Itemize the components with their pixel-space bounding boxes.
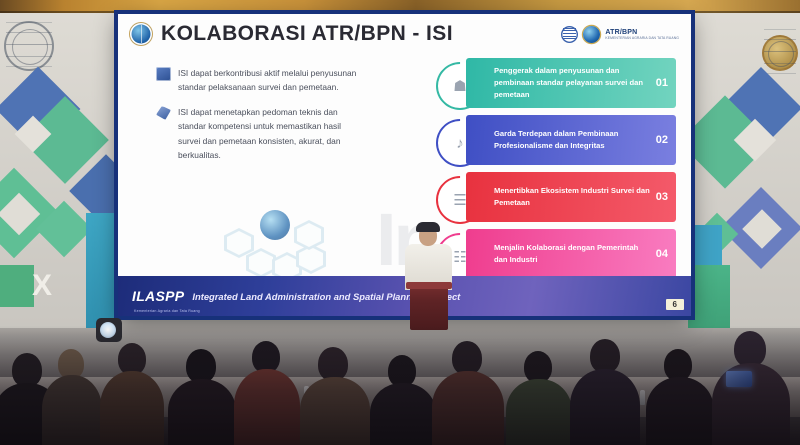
item-number: 03 [656,191,668,203]
wall-emblem-right [762,35,798,71]
audience-shoulders [42,375,102,445]
item-bar-01: Penggerak dalam penyusunan dan pembinaan… [466,58,676,108]
decorative-diamond-panel-right [688,13,800,328]
certificate-icon [156,106,171,120]
numbered-item-list: ☗ Penggerak dalam penyusunan dan pembina… [436,58,676,286]
conference-photo-scene: X KOLABORASI ATR/BPN - ISI ATR/BPN KEME [0,0,800,445]
hexagon-cell [294,220,324,250]
audience-head [186,349,216,383]
item-bar-03: Menertibkan Ekosistem Industri Survei da… [466,172,676,222]
globe-emblem-logo [130,23,152,45]
audience-shoulders [506,379,572,445]
numbered-item: ♪ Garda Terdepan dalam Pembinaan Profesi… [436,115,676,167]
slide-title: KOLABORASI ATR/BPN - ISI [161,22,453,46]
footer-brand: ILASPP [132,288,184,304]
bullet-item: ISI dapat menetapkan pedoman teknis dan … [156,105,364,163]
numbered-item: ☰ Menertibkan Ekosistem Industri Survei … [436,172,676,224]
audience-shoulders [100,371,164,445]
item-number: 02 [656,134,668,146]
audience-head [734,331,766,367]
audience-shoulders [646,377,714,445]
hexagon-cell [224,228,254,258]
item-text: Menjalin Kolaborasi dengan Pemerintah da… [494,242,651,266]
bullet-text: ISI dapat berkontribusi aktif melalui pe… [178,66,364,95]
wooden-ceiling-strip [0,0,800,13]
item-number: 04 [656,248,668,260]
speaker-cap [416,222,440,232]
audience-shoulders [370,383,436,445]
audience-shoulders [168,379,236,445]
atrbpn-logo-text: ATR/BPN KEMENTERIAN AGRARIA DAN TATA RUA… [605,29,679,40]
green-block [0,265,34,307]
globe-hex-icon [260,210,290,240]
bullet-text: ISI dapat menetapkan pedoman teknis dan … [178,105,364,163]
hexagon-cell [246,248,276,278]
item-text: Garda Terdepan dalam Pembinaan Profesion… [494,128,651,152]
atrbpn-globe-icon [583,26,600,43]
numbered-item: ☷ Menjalin Kolaborasi dengan Pemerintah … [436,229,676,281]
slide-header: KOLABORASI ATR/BPN - ISI ATR/BPN KEMENTE… [118,14,691,54]
audience-head [318,347,348,381]
water-bottle [640,390,645,405]
slide-bullet-list: ISI dapat berkontribusi aktif melalui pe… [156,66,364,173]
audience-shoulders [570,369,640,445]
slide-page-number: 6 [666,299,684,310]
item-text: Menertibkan Ekosistem Industri Survei da… [494,185,651,209]
audience-head [452,341,482,375]
wall-globe-emblem-left [4,21,54,71]
item-number: 01 [656,77,668,89]
header-logo-group: ATR/BPN KEMENTERIAN AGRARIA DAN TATA RUA… [561,26,679,43]
audience-shoulders [432,371,504,445]
audience-area [0,310,800,445]
audience-phone-screen [726,371,752,387]
numbered-item: ☗ Penggerak dalam penyusunan dan pembina… [436,58,676,110]
audience-head [12,353,42,387]
audience-head [590,339,620,373]
bullet-item: ISI dapat berkontribusi aktif melalui pe… [156,66,364,95]
item-bar-02: Garda Terdepan dalam Pembinaan Profesion… [466,115,676,165]
building-standard-icon [156,67,171,81]
item-bar-04: Menjalin Kolaborasi dengan Pemerintah da… [466,229,676,279]
item-text: Penggerak dalam penyusunan dan pembinaan… [494,65,651,100]
isi-ring-logo [561,26,578,43]
letter-x-graphic: X [32,271,52,301]
audience-shoulders [300,377,370,445]
audience-shoulders [234,369,300,445]
decorative-diamond-panel-left: X [0,13,118,328]
